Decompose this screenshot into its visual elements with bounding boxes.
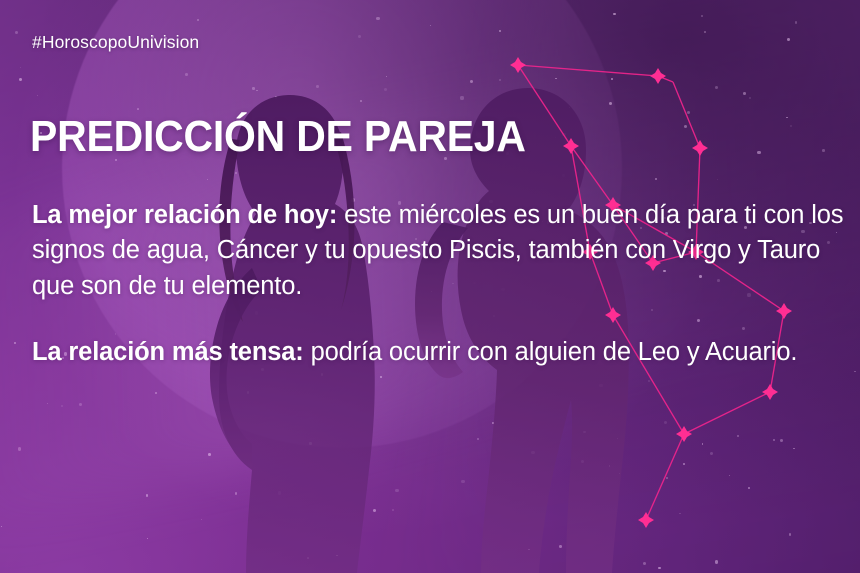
paragraph-tense-relationship: La relación más tensa: podría ocurrir co… <box>32 335 844 370</box>
horoscope-card: #HoroscopoUnivision PREDICCIÓN DE PAREJA… <box>0 0 860 573</box>
prediction-body: La mejor relación de hoy: este miércoles… <box>32 198 844 370</box>
card-content: #HoroscopoUnivision PREDICCIÓN DE PAREJA… <box>0 0 860 573</box>
paragraph-lead-tense: La relación más tensa: <box>32 338 304 366</box>
paragraph-text-tense: podría ocurrir con alguien de Leo y Acua… <box>304 338 798 366</box>
page-title: PREDICCIÓN DE PAREJA <box>30 115 526 159</box>
paragraph-best-relationship: La mejor relación de hoy: este miércoles… <box>32 198 844 304</box>
hashtag-label: #HoroscopoUnivision <box>32 32 199 53</box>
paragraph-lead-best: La mejor relación de hoy: <box>32 201 337 229</box>
